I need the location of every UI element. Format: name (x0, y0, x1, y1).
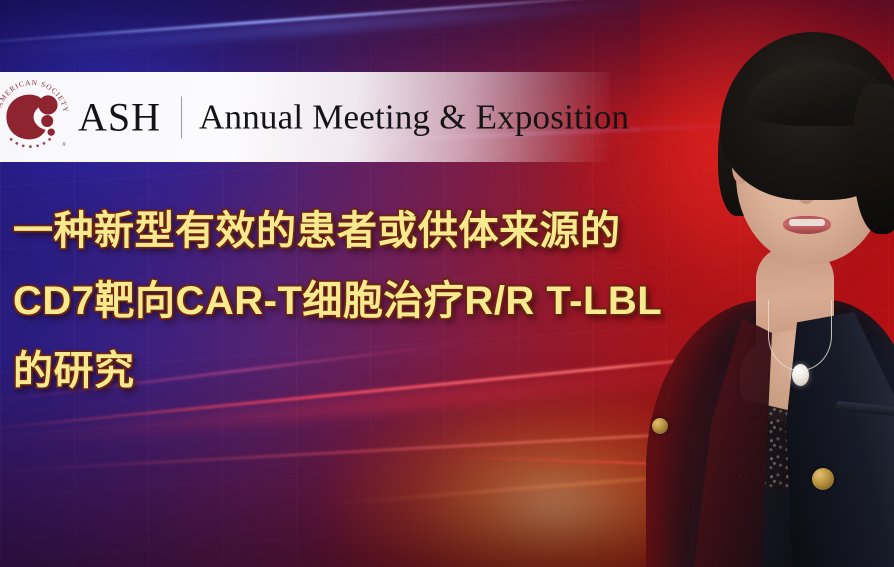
title-line-3: 的研究 (13, 336, 733, 406)
jacket-button (652, 418, 668, 434)
portrait-teeth (789, 219, 825, 226)
slide-title: 一种新型有效的患者或供体来源的 CD7靶向CAR-T细胞治疗R/R T-LBL … (13, 196, 733, 406)
title-slide: AMERICAN SOCIETY OF HEMATOLOGY ® ASH Ann… (0, 0, 894, 567)
ash-event-name: Annual Meeting & Exposition (199, 97, 629, 137)
wordmark-divider (181, 96, 182, 138)
jacket-button (812, 468, 834, 490)
ash-wordmark: ASH Annual Meeting & Exposition (78, 94, 629, 141)
pearl-pendant (792, 364, 809, 386)
ash-blood-cell-logo: AMERICAN SOCIETY OF HEMATOLOGY ® (0, 77, 72, 157)
title-line-1: 一种新型有效的患者或供体来源的 (13, 196, 733, 266)
necklace-chain (768, 300, 832, 371)
portrait-hair-right (854, 84, 894, 234)
ash-banner: AMERICAN SOCIETY OF HEMATOLOGY ® ASH Ann… (0, 72, 610, 162)
svg-text:®: ® (62, 142, 66, 148)
ash-organization-name: ASH (78, 94, 161, 141)
title-line-2: CD7靶向CAR-T细胞治疗R/R T-LBL (13, 266, 733, 336)
